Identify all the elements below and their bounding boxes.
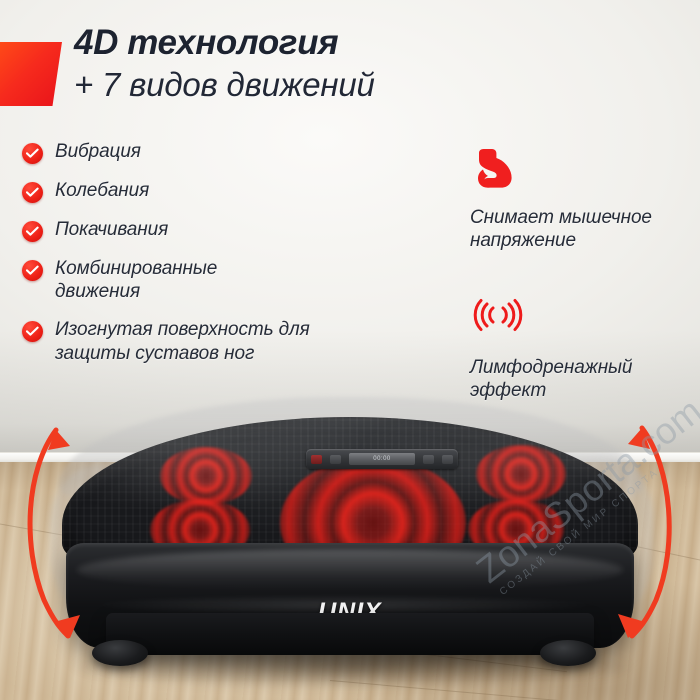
foot-left: [92, 640, 148, 666]
red-accent-shape: [0, 42, 62, 106]
list-item-label: Колебания: [55, 179, 149, 202]
speed-down-button[interactable]: [423, 455, 434, 464]
side-feature-label: Снимает мышечное напряжение: [470, 206, 685, 252]
list-item-label: Вибрация: [55, 140, 141, 163]
list-item-label: Комбинированные движения: [55, 257, 307, 303]
list-item: Покачивания: [22, 218, 352, 242]
side-feature-lymph-drainage: Лимфодренажный эффект: [470, 298, 685, 402]
list-item: Колебания: [22, 179, 352, 203]
promo-poster: 4D технология + 7 видов движений Вибраци…: [0, 0, 700, 700]
check-circle-icon: [22, 182, 43, 203]
list-item: Изогнутая поверхность для защиты суставо…: [22, 318, 352, 364]
check-circle-icon: [22, 143, 43, 164]
check-circle-icon: [22, 260, 43, 281]
check-circle-icon: [22, 221, 43, 242]
feature-bullet-list: Вибрация Колебания Покачивания Комбиниро…: [22, 140, 352, 380]
control-panel[interactable]: 00:00: [306, 449, 458, 469]
base-chassis: [106, 613, 594, 655]
list-item: Комбинированные движения: [22, 257, 352, 303]
vibration-waves-icon: [470, 298, 685, 342]
housing-highlight: [77, 549, 622, 591]
product-vibration-plate: 00:00 UNIX: [40, 395, 660, 680]
foot-right: [540, 640, 596, 666]
side-feature-muscle-relief: Снимает мышечное напряжение: [470, 148, 685, 252]
flexed-bicep-icon: [470, 148, 685, 192]
mode-button[interactable]: [330, 455, 341, 464]
list-item: Вибрация: [22, 140, 352, 164]
page-title: 4D технология: [74, 24, 634, 62]
list-item-label: Покачивания: [55, 218, 168, 241]
page-subtitle: + 7 видов движений: [74, 67, 634, 103]
header-title-block: 4D технология + 7 видов движений: [74, 24, 634, 102]
check-circle-icon: [22, 321, 43, 342]
control-display: 00:00: [349, 453, 415, 465]
speed-up-button[interactable]: [442, 455, 453, 464]
power-button[interactable]: [311, 455, 322, 464]
list-item-label: Изогнутая поверхность для защиты суставо…: [55, 318, 345, 364]
